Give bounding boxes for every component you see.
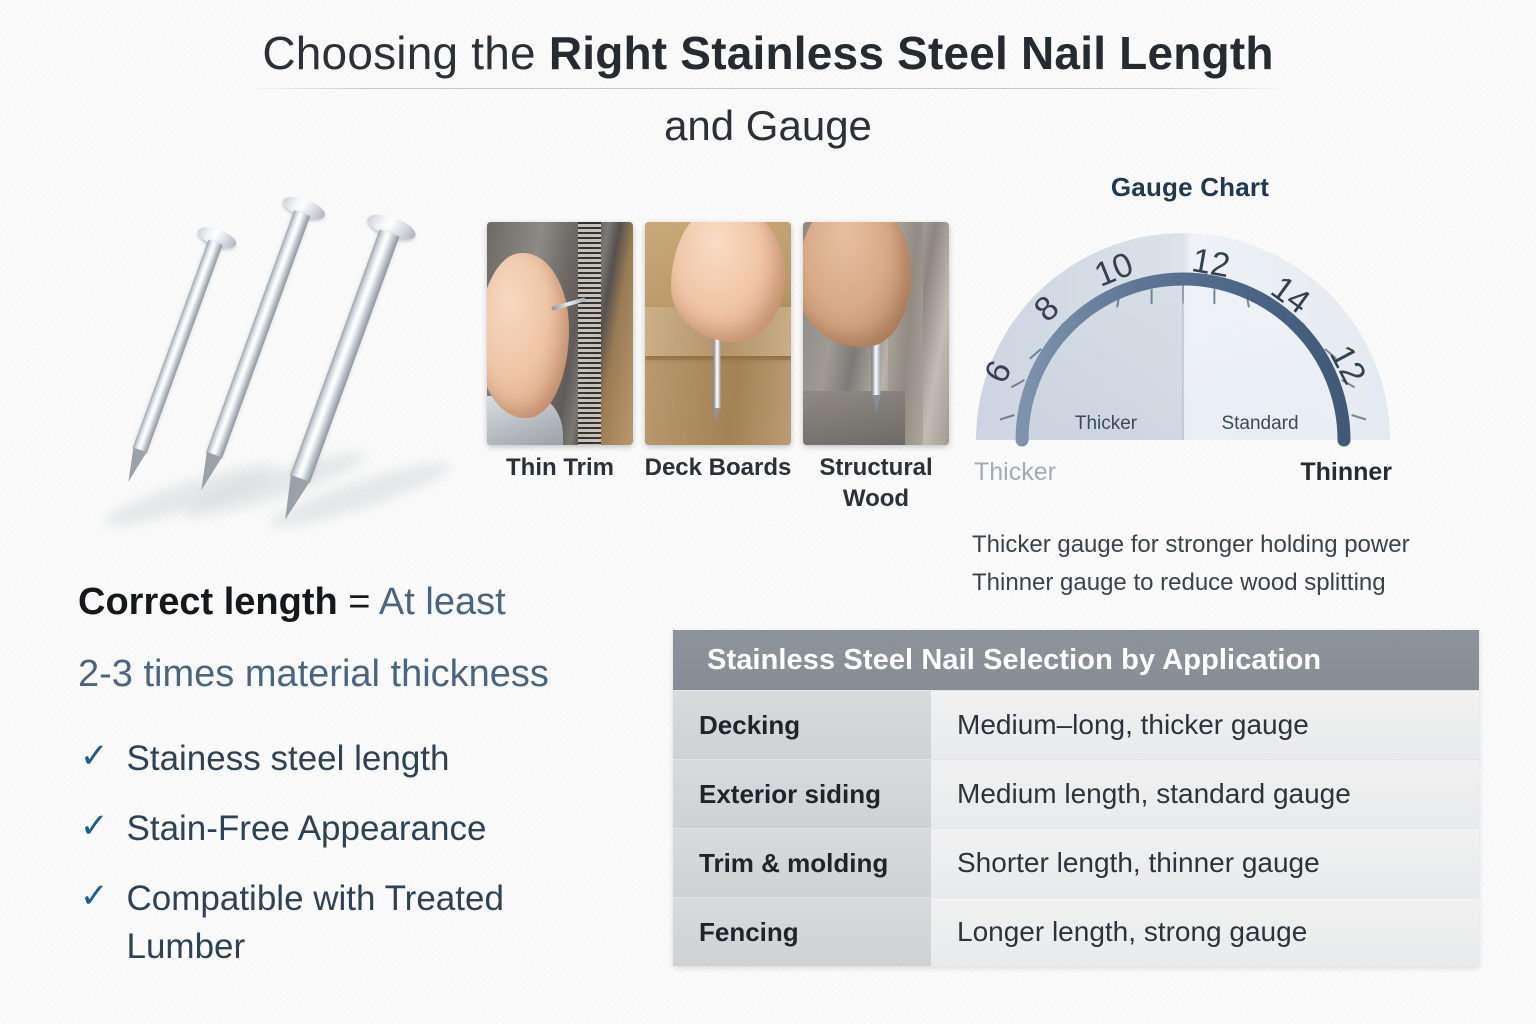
table-cell-recommendation: Medium length, standard gauge <box>931 760 1479 828</box>
table-cell-application: Trim & molding <box>673 829 931 897</box>
gauge-chart-title: Gauge Chart <box>975 172 1405 203</box>
gauge-side-label-thicker: Thicker <box>974 458 1056 487</box>
list-item: ✓ Stain-Free Appearance <box>80 805 680 853</box>
list-item: ✓ Stainess steel length <box>80 735 680 783</box>
benefits-checklist: ✓ Stainess steel length ✓ Stain-Free App… <box>80 735 680 993</box>
nail-large <box>372 209 419 226</box>
title-line-2: and Gauge <box>0 101 1536 151</box>
checklist-label: Stainess steel length <box>127 735 450 783</box>
checklist-label: Stain-Free Appearance <box>127 805 487 853</box>
photo-caption-deck-boards: Deck Boards <box>633 452 803 483</box>
gauge-notes: Thicker gauge for stronger holding power… <box>972 526 1482 602</box>
nail-medium <box>286 192 327 207</box>
photo-thin-trim <box>487 222 633 445</box>
page-title: Choosing the Right Stainless Steel Nail … <box>0 24 1536 151</box>
table-cell-recommendation: Longer length, strong gauge <box>931 898 1479 966</box>
list-item: ✓ Compatible with Treated Lumber <box>80 875 680 971</box>
nail-point <box>121 447 147 487</box>
photo-caption-thin-trim: Thin Trim <box>475 452 645 483</box>
gauge-chart: 6 8 10 12 14 12 Thicker Standard <box>966 222 1400 450</box>
length-rule-value-2: 2-3 times material thickness <box>78 650 658 698</box>
wood-detail <box>601 222 633 445</box>
title-emphasis: Right Stainless Steel Nail Length <box>549 27 1274 79</box>
table-cell-recommendation: Shorter length, thinner gauge <box>931 829 1479 897</box>
table-row: Decking Medium–long, thicker gauge <box>673 690 1479 759</box>
length-rule-value-1: At least <box>379 581 506 623</box>
table-cell-application: Decking <box>673 691 931 759</box>
length-rule-term: Correct length <box>78 581 338 623</box>
gauge-label-standard: Standard <box>1221 413 1298 434</box>
photo-structural-wood <box>803 222 949 445</box>
gauge-label-thicker: Thicker <box>1075 413 1138 434</box>
table-cell-recommendation: Medium–long, thicker gauge <box>931 691 1479 759</box>
title-prefix: Choosing the <box>262 27 548 79</box>
gauge-number-3: 12 <box>1189 241 1233 285</box>
selection-table: Stainless Steel Nail Selection by Applic… <box>673 630 1479 966</box>
check-icon: ✓ <box>80 735 109 777</box>
photo-caption-structural-wood: Structural Wood <box>791 452 961 514</box>
ruler-detail <box>578 222 601 445</box>
table-row: Trim & molding Shorter length, thinner g… <box>673 828 1479 897</box>
surface-detail <box>803 391 905 445</box>
photo-deck-boards <box>645 222 791 445</box>
check-icon: ✓ <box>80 875 109 917</box>
nail-shaft <box>133 240 223 454</box>
gauge-note-thinner: Thinner gauge to reduce wood splitting <box>972 564 1482 602</box>
hand-detail <box>803 222 911 347</box>
gauge-note-thicker: Thicker gauge for stronger holding power <box>972 526 1482 564</box>
checklist-label: Compatible with Treated Lumber <box>127 875 547 971</box>
gauge-side-label-thinner: Thinner <box>1300 458 1392 487</box>
length-rule: Correct length = At least 2-3 times mate… <box>78 578 658 698</box>
nails-photo <box>70 182 460 552</box>
gauge-svg: 6 8 10 12 14 12 Thicker Standard <box>966 222 1400 450</box>
check-icon: ✓ <box>80 805 109 847</box>
table-row: Fencing Longer length, strong gauge <box>673 897 1479 966</box>
table-row: Exterior siding Medium length, standard … <box>673 759 1479 828</box>
nail-shaft <box>290 229 399 482</box>
title-divider <box>243 88 1293 89</box>
table-cell-application: Exterior siding <box>673 760 931 828</box>
table-cell-application: Fencing <box>673 898 931 966</box>
length-rule-equals: = <box>338 581 379 623</box>
nail-small <box>201 223 239 237</box>
hand-detail <box>671 222 785 342</box>
table-header: Stainless Steel Nail Selection by Applic… <box>673 630 1479 690</box>
title-line-1: Choosing the Right Stainless Steel Nail … <box>0 24 1536 82</box>
